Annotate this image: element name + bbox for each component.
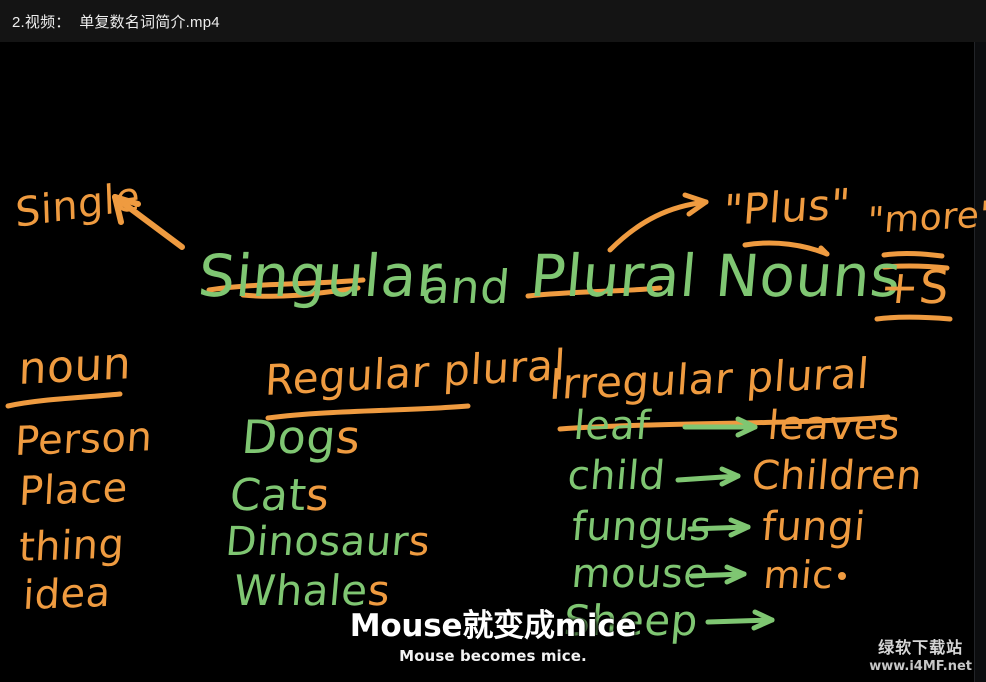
word-plural-mice-partial: mic bbox=[762, 556, 835, 594]
word-plural-leaves: leaves bbox=[766, 406, 902, 446]
column-title-regular-plural: Regular plural bbox=[264, 344, 567, 402]
list-item-dogs: Dogs bbox=[240, 414, 359, 460]
word-singular-mouse: mouse bbox=[570, 554, 710, 594]
heading-singular: Singular bbox=[196, 247, 444, 305]
list-item-dinosaurs: Dinosaurs bbox=[224, 522, 428, 562]
annotation-plus-s: +S bbox=[878, 264, 952, 310]
word-singular-child: child bbox=[566, 456, 667, 496]
list-item-person: Person bbox=[14, 417, 153, 462]
watermark-site-url: www.i4MF.net bbox=[869, 659, 972, 674]
annotation-single: Single bbox=[15, 176, 141, 234]
subtitle-secondary: Mouse becomes mice. bbox=[0, 647, 986, 665]
word-stem-dinosaur: Dinosaur bbox=[224, 522, 410, 562]
site-watermark: 绿软下载站 www.i4MF.net bbox=[869, 634, 972, 674]
word-suffix-cats: s bbox=[304, 474, 331, 518]
word-plural-fungi: fungi bbox=[760, 507, 867, 547]
watermark-site-name: 绿软下载站 bbox=[869, 634, 972, 658]
word-stem-cat: Cat bbox=[228, 474, 308, 518]
video-player-window: 2.视频： 单复数名词简介.mp4 bbox=[0, 0, 986, 682]
video-stage[interactable]: Single Singular and Plural Nouns "Plus" … bbox=[0, 42, 986, 682]
annotation-plus-quote: "Plus" bbox=[722, 183, 852, 232]
list-item-thing: thing bbox=[18, 524, 125, 568]
heading-plural-nouns: Plural Nouns bbox=[528, 247, 903, 305]
arrow-leaf-to-leaves bbox=[685, 419, 755, 435]
list-item-place: Place bbox=[18, 468, 129, 512]
word-singular-leaf: leaf bbox=[572, 406, 652, 446]
column-title-irregular-plural: Irregular plural bbox=[548, 353, 871, 406]
window-title: 2.视频： 单复数名词简介.mp4 bbox=[12, 11, 220, 32]
subtitle-primary: Mouse就变成mice bbox=[0, 600, 986, 645]
window-titlebar: 2.视频： 单复数名词简介.mp4 bbox=[0, 0, 986, 42]
heading-and: and bbox=[420, 264, 512, 310]
word-singular-fungus: fungus bbox=[570, 507, 713, 547]
letterbox-right-edge bbox=[975, 42, 986, 682]
list-item-cats: Cats bbox=[228, 474, 328, 518]
word-plural-children: Children bbox=[750, 456, 924, 496]
word-stem-dog: Dog bbox=[240, 414, 338, 460]
arrow-child-to-children bbox=[678, 469, 738, 484]
word-suffix-dogs: s bbox=[334, 414, 362, 460]
annotation-more-quote: "more" bbox=[866, 197, 986, 240]
underline-noun bbox=[8, 394, 120, 406]
word-suffix-dinosaurs: s bbox=[407, 522, 432, 562]
letterbox-divider bbox=[974, 42, 975, 682]
ink-dot-after-mic bbox=[840, 574, 845, 579]
underline-plus-s bbox=[877, 317, 950, 319]
column-title-noun: noun bbox=[18, 342, 132, 392]
